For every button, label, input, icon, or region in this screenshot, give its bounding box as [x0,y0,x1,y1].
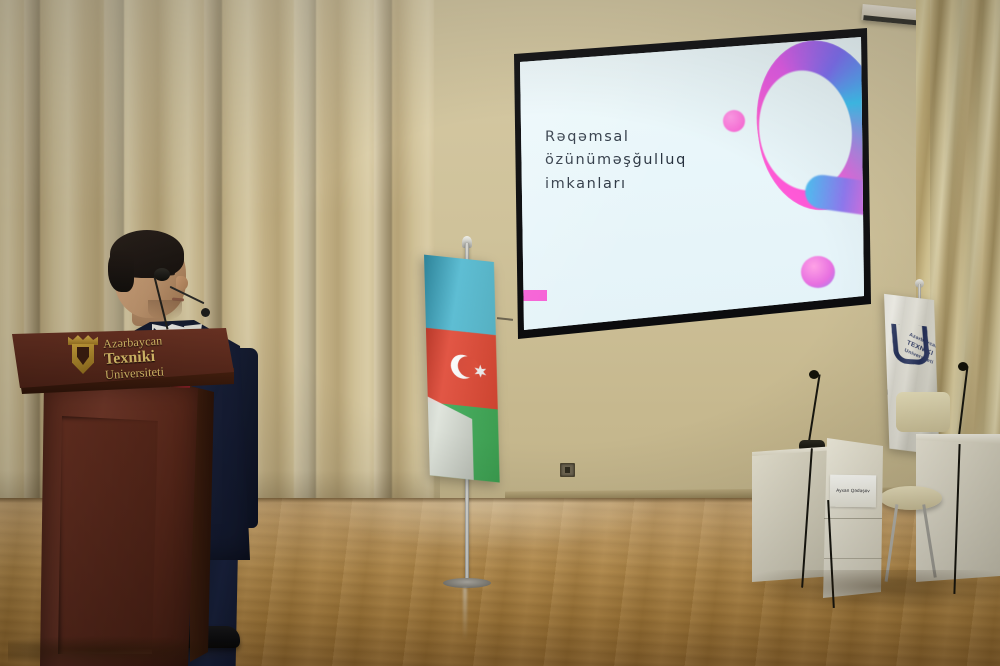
mic-stem [807,374,820,445]
chair-leg [922,504,937,578]
chair-seat [880,486,942,510]
nameplate: Ayxan Qədəşov [830,475,876,508]
wall-socket-icon [560,463,575,477]
chair-backrest [896,392,950,432]
mic-head-icon [809,370,819,379]
lectern-inscription: Azərbaycan Texniki Universiteti [103,329,238,383]
slide-title-line-1: Rəqəmsal [545,126,775,149]
table-shadow [740,570,1000,610]
mic-head-icon [958,362,968,371]
azerbaijan-flag [424,255,500,483]
mic-stem [957,366,968,440]
flag-shading [424,255,500,483]
nameplate-text: Ayxan Qədəşov [830,488,876,494]
speaker-hair-side [108,250,134,292]
table-panel-left [752,450,834,582]
lectern: Azərbaycan Texniki Universiteti [12,328,234,666]
slide-title-line-2: özünüməşğulluq [545,149,775,172]
atu-emblem-icon [66,334,102,376]
projection-screen: Rəqəmsal özünüməşğulluq imkanları [505,28,875,343]
lectern-panel [58,416,162,654]
gooseneck-microphone-left [795,374,825,452]
table-panel-seam [824,558,882,559]
mic-head-icon [154,268,170,281]
floor-sheen [280,498,700,638]
emblem-crown [68,334,98,345]
emblem-shield [72,344,94,374]
podium-microphone [160,276,206,332]
slide-title-line-3: imkanları [545,173,775,196]
table-panel-seam [824,518,882,519]
pink-dot-large [801,256,835,288]
chair-seat-group [880,486,942,582]
flagpole-base [443,578,491,588]
magenta-accent-chip [521,290,547,301]
gooseneck-microphone-right [944,366,974,444]
curtain-highlight [0,0,434,216]
lectern-shadow [8,636,248,666]
flagpole-reflection [463,588,467,640]
slide-title: Rəqəmsal özünüməşğulluq imkanları [545,126,775,196]
screen-surface: Rəqəmsal özünüməşğulluq imkanları [505,28,875,343]
presentation-hall-photo: Rəqəmsal özünüməşğulluq imkanları Azə [0,0,1000,666]
